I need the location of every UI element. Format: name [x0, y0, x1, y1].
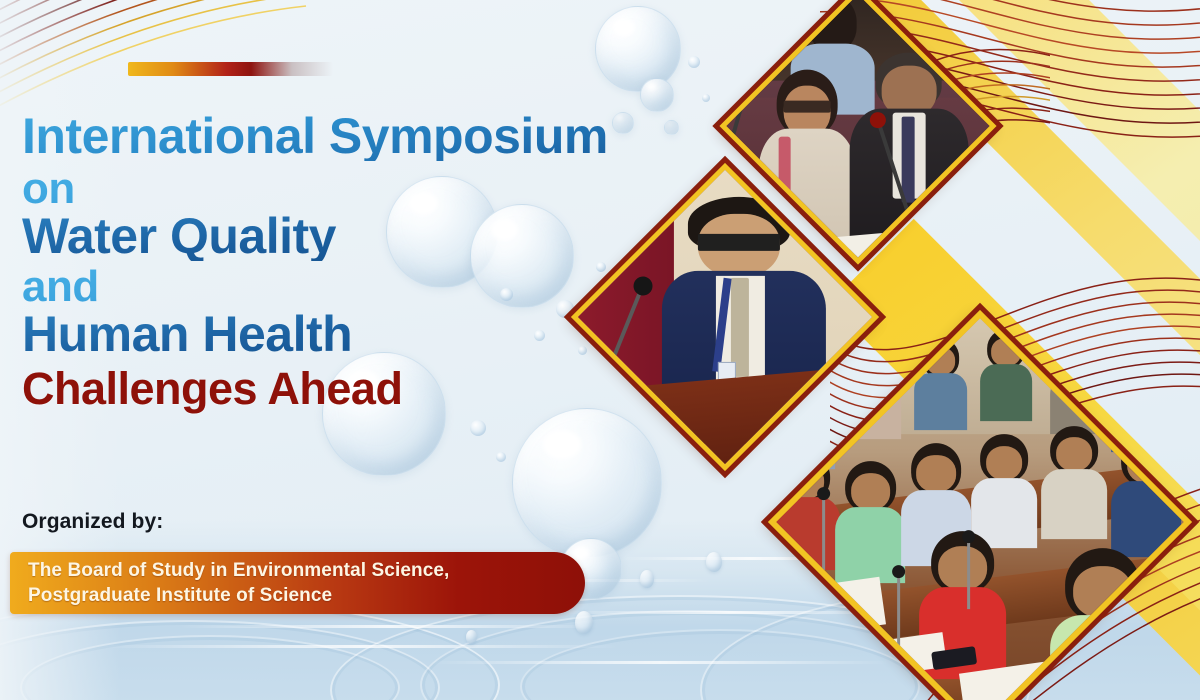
title-line-on: on: [22, 167, 742, 210]
page-title: International Symposium on Water Quality…: [22, 112, 742, 411]
title-line-human-health: Human Health: [22, 310, 742, 359]
organizer-line-1: The Board of Study in Environmental Scie…: [28, 558, 567, 583]
audience-photo: [768, 310, 1192, 700]
title-line-challenges-ahead: Challenges Ahead: [22, 367, 742, 411]
title-line-international-symposium: International Symposium: [22, 112, 742, 161]
gradient-rule-bar: [128, 62, 333, 76]
organizer-banner: The Board of Study in Environmental Scie…: [10, 552, 585, 614]
title-line-water-quality: Water Quality: [22, 212, 742, 261]
organized-by-label: Organized by:: [22, 510, 163, 534]
organizer-line-2: Postgraduate Institute of Science: [28, 583, 567, 608]
symposium-banner: International Symposium on Water Quality…: [0, 0, 1200, 700]
title-line-and: and: [22, 265, 742, 308]
